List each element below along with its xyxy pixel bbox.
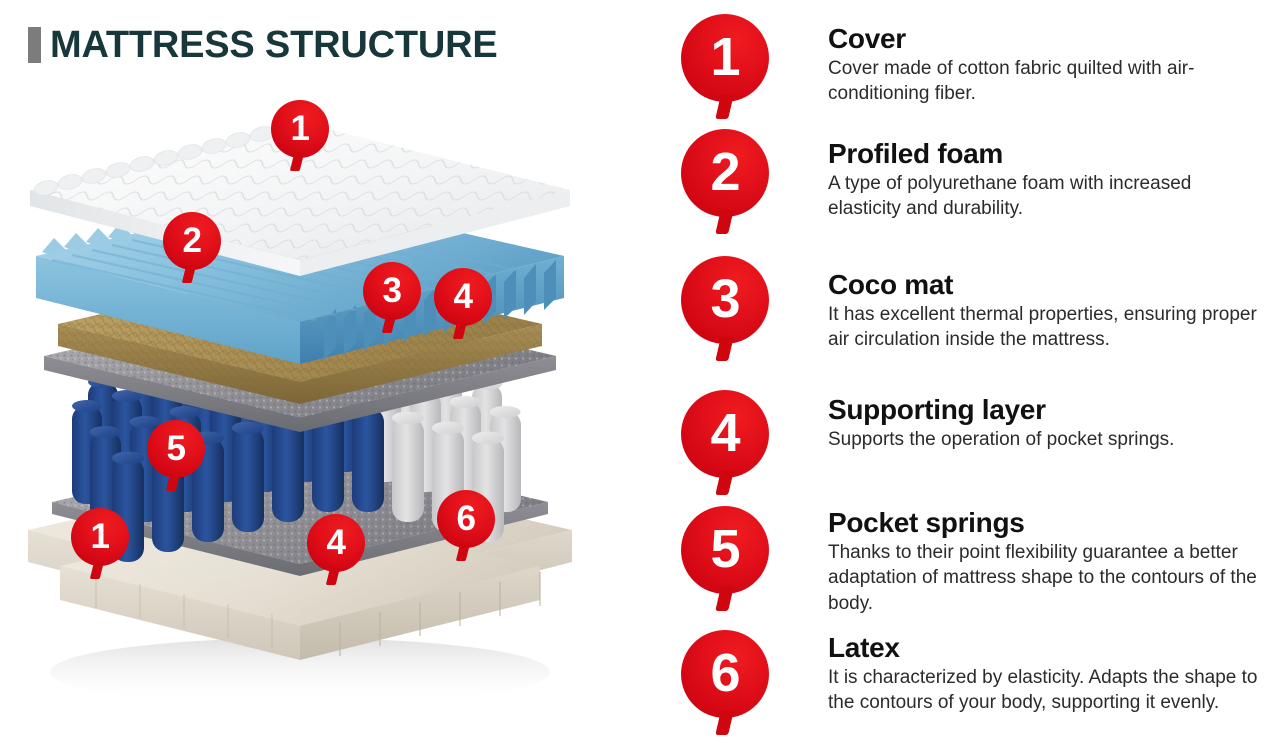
diagram-callout-4-supporting-layer-top[interactable]: 4 bbox=[434, 268, 492, 326]
pin-circle: 4 bbox=[307, 514, 365, 572]
legend-text-block: Cover Cover made of cotton fabric quilte… bbox=[828, 24, 1268, 107]
diagram-callout-3-coco-mat[interactable]: 3 bbox=[363, 262, 421, 320]
title-accent-bar bbox=[28, 27, 41, 63]
legend-item-description: A type of polyurethane foam with increas… bbox=[828, 171, 1268, 221]
pin-number: 5 bbox=[710, 522, 739, 576]
legend-pin-1[interactable]: 1 bbox=[670, 14, 780, 126]
legend-pin-5[interactable]: 5 bbox=[670, 506, 780, 618]
diagram-callout-1-cover[interactable]: 1 bbox=[271, 100, 329, 158]
legend-item-description: Thanks to their point flexibility guaran… bbox=[828, 540, 1268, 615]
pin-circle: 1 bbox=[71, 508, 129, 566]
legend-item-title: Pocket springs bbox=[828, 508, 1268, 537]
legend-text-block: Profiled foam A type of polyurethane foa… bbox=[828, 139, 1268, 222]
pin-number: 2 bbox=[183, 223, 202, 258]
pin-circle: 5 bbox=[147, 420, 205, 478]
pin-number: 5 bbox=[167, 431, 186, 466]
pin-circle: 4 bbox=[434, 268, 492, 326]
legend-text-block: Latex It is characterized by elasticity.… bbox=[828, 633, 1268, 716]
legend-item-title: Profiled foam bbox=[828, 139, 1268, 168]
pin-circle: 6 bbox=[681, 630, 769, 718]
pin-circle: 3 bbox=[681, 256, 769, 344]
pin-number: 1 bbox=[91, 519, 110, 554]
page-title: MATTRESS STRUCTURE bbox=[28, 26, 497, 64]
diagram-callout-1-cover-lower[interactable]: 1 bbox=[71, 508, 129, 566]
infographic-canvas: MATTRESS STRUCTURE bbox=[0, 0, 1280, 743]
pin-circle: 5 bbox=[681, 506, 769, 594]
pin-number: 2 bbox=[710, 145, 739, 199]
legend-item-description: It is characterized by elasticity. Adapt… bbox=[828, 665, 1268, 715]
pin-number: 1 bbox=[710, 30, 739, 84]
legend-item-title: Supporting layer bbox=[828, 395, 1268, 424]
pin-number: 3 bbox=[710, 272, 739, 326]
pin-circle: 1 bbox=[271, 100, 329, 158]
legend-list: 1 Cover Cover made of cotton fabric quil… bbox=[660, 0, 1280, 743]
legend-item-title: Cover bbox=[828, 24, 1268, 53]
legend-item-title: Latex bbox=[828, 633, 1268, 662]
pin-number: 1 bbox=[291, 111, 310, 146]
legend-item-description: It has excellent thermal properties, ens… bbox=[828, 302, 1268, 352]
pin-number: 6 bbox=[457, 501, 476, 536]
pin-number: 6 bbox=[710, 646, 739, 700]
pin-circle: 1 bbox=[681, 14, 769, 102]
pin-circle: 4 bbox=[681, 390, 769, 478]
diagram-callout-2-profiled-foam[interactable]: 2 bbox=[163, 212, 221, 270]
pin-number: 3 bbox=[383, 273, 402, 308]
pin-circle: 2 bbox=[681, 129, 769, 217]
pin-number: 4 bbox=[710, 406, 739, 460]
legend-pin-4[interactable]: 4 bbox=[670, 390, 780, 502]
diagram-callout-4-supporting-layer-bottom[interactable]: 4 bbox=[307, 514, 365, 572]
pin-number: 4 bbox=[454, 279, 473, 314]
legend-pin-2[interactable]: 2 bbox=[670, 129, 780, 241]
legend-pin-3[interactable]: 3 bbox=[670, 256, 780, 368]
legend-item-description: Supports the operation of pocket springs… bbox=[828, 427, 1268, 452]
legend-text-block: Coco mat It has excellent thermal proper… bbox=[828, 270, 1268, 353]
legend-item-title: Coco mat bbox=[828, 270, 1268, 299]
legend-pin-6[interactable]: 6 bbox=[670, 630, 780, 742]
legend-text-block: Pocket springs Thanks to their point fle… bbox=[828, 508, 1268, 616]
pin-number: 4 bbox=[327, 525, 346, 560]
diagram-callout-6-latex[interactable]: 6 bbox=[437, 490, 495, 548]
pin-circle: 2 bbox=[163, 212, 221, 270]
mattress-exploded-diagram: 1 2 3 4 5 bbox=[0, 60, 660, 740]
pin-circle: 6 bbox=[437, 490, 495, 548]
diagram-callout-5-pocket-springs[interactable]: 5 bbox=[147, 420, 205, 478]
legend-item-description: Cover made of cotton fabric quilted with… bbox=[828, 56, 1268, 106]
title-label: MATTRESS STRUCTURE bbox=[50, 26, 497, 64]
pin-circle: 3 bbox=[363, 262, 421, 320]
legend-text-block: Supporting layer Supports the operation … bbox=[828, 395, 1268, 452]
